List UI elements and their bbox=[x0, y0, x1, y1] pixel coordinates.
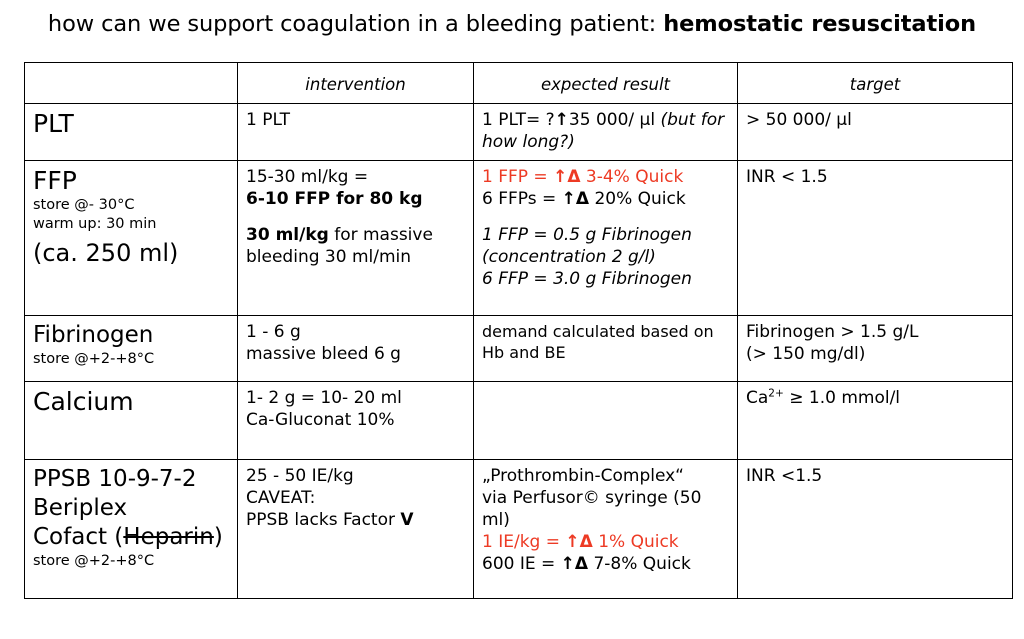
calcium-ion-charge: 2+ bbox=[768, 387, 784, 399]
cell-product-plt: PLT bbox=[25, 104, 238, 161]
expected-plt-line1: 1 PLT= ?↑35 000/ µl (but for how long?) bbox=[482, 109, 729, 153]
target-calcium-line1: Ca2+ ≥ 1.0 mmol/l bbox=[746, 387, 1004, 409]
intervention-ffp-massive: 30 ml/kg for massive bleeding 30 ml/min bbox=[246, 224, 465, 268]
cell-target-fibrinogen: Fibrinogen > 1.5 g/L (> 150 mg/dl) bbox=[738, 316, 1013, 382]
expected-plt-value: 35 000/ µl bbox=[569, 110, 661, 130]
cell-target-ppsb: INR <1.5 bbox=[738, 460, 1013, 599]
table-row-ppsb: PPSB 10-9-7-2 Beriplex Cofact (Heparin) … bbox=[25, 460, 1013, 599]
intervention-ppsb-caveat-prefix: PPSB lacks Factor bbox=[246, 510, 400, 530]
expected-ffp-single: 1 FFP = ↑Δ 3-4% Quick bbox=[482, 166, 729, 188]
table-row-calcium: Calcium 1- 2 g = 10- 20 ml Ca-Gluconat 1… bbox=[25, 382, 1013, 460]
intervention-calcium-preparation: Ca-Gluconat 10% bbox=[246, 409, 465, 431]
spacer bbox=[246, 210, 465, 224]
product-volume-ffp: (ca. 250 ml) bbox=[33, 238, 229, 269]
header-label-intervention: intervention bbox=[246, 68, 465, 94]
cell-target-plt: > 50 000/ µl bbox=[738, 104, 1013, 161]
expected-ppsb-600ie-value: 7-8% Quick bbox=[588, 554, 691, 574]
table-row-fibrinogen: Fibrinogen store @+2-+8°C 1 - 6 g massiv… bbox=[25, 316, 1013, 382]
intervention-ppsb-dose: 25 - 50 IE/kg bbox=[246, 465, 465, 487]
product-storage-ppsb: store @+2-+8°C bbox=[33, 552, 229, 571]
hemostatic-resuscitation-table: intervention expected result target PLT … bbox=[24, 62, 1013, 599]
cell-expected-ffp: 1 FFP = ↑Δ 3-4% Quick 6 FFPs = ↑Δ 20% Qu… bbox=[474, 161, 738, 316]
cell-intervention-ppsb: 25 - 50 IE/kg CAVEAT: PPSB lacks Factor … bbox=[238, 460, 474, 599]
intervention-ppsb-factor-v: V bbox=[400, 510, 413, 530]
target-ffp-line1: INR < 1.5 bbox=[746, 166, 1004, 188]
calcium-target-value: ≥ 1.0 mmol/l bbox=[784, 388, 900, 408]
cell-expected-plt: 1 PLT= ?↑35 000/ µl (but for how long?) bbox=[474, 104, 738, 161]
expected-ffp-single-prefix: 1 FFP = bbox=[482, 167, 553, 187]
cell-intervention-calcium: 1- 2 g = 10- 20 ml Ca-Gluconat 10% bbox=[238, 382, 474, 460]
product-name-ffp: FFP bbox=[33, 166, 229, 196]
cell-product-ppsb: PPSB 10-9-7-2 Beriplex Cofact (Heparin) … bbox=[25, 460, 238, 599]
spacer bbox=[482, 210, 729, 224]
expected-ppsb-per-kg-value: 1% Quick bbox=[593, 532, 679, 552]
expected-ffp-fibrinogen-6: 6 FFP = 3.0 g Fibrinogen bbox=[482, 268, 729, 290]
table-row-ffp: FFP store @- 30°C warm up: 30 min (ca. 2… bbox=[25, 161, 1013, 316]
product-name-ppsb: PPSB 10-9-7-2 bbox=[33, 465, 229, 494]
cell-product-calcium: Calcium bbox=[25, 382, 238, 460]
expected-ppsb-administration: via Perfusor© syringe (50 ml) bbox=[482, 487, 729, 531]
expected-ppsb-600ie-prefix: 600 IE = bbox=[482, 554, 561, 574]
cell-intervention-ffp: 15-30 ml/kg = 6-10 FFP for 80 kg 30 ml/k… bbox=[238, 161, 474, 316]
product-name-plt: PLT bbox=[33, 109, 229, 139]
cell-expected-ppsb: „Prothrombin-Complex“ via Perfusor© syri… bbox=[474, 460, 738, 599]
cell-product-fibrinogen: Fibrinogen store @+2-+8°C bbox=[25, 316, 238, 382]
up-arrow-delta-icon: ↑Δ bbox=[562, 189, 589, 209]
expected-ffp-six-value: 20% Quick bbox=[589, 189, 686, 209]
table-row-plt: PLT 1 PLT 1 PLT= ?↑35 000/ µl (but for h… bbox=[25, 104, 1013, 161]
intervention-fibrinogen-massive: massive bleed 6 g bbox=[246, 343, 465, 365]
intervention-plt-line1: 1 PLT bbox=[246, 109, 465, 131]
header-label-target: target bbox=[746, 68, 1004, 94]
page-title-lead: how can we support coagulation in a blee… bbox=[48, 11, 663, 37]
cell-target-calcium: Ca2+ ≥ 1.0 mmol/l bbox=[738, 382, 1013, 460]
cell-intervention-fibrinogen: 1 - 6 g massive bleed 6 g bbox=[238, 316, 474, 382]
expected-ppsb-per-kg: 1 IE/kg = ↑Δ 1% Quick bbox=[482, 531, 729, 553]
intervention-fibrinogen-dose: 1 - 6 g bbox=[246, 321, 465, 343]
header-cell-intervention: intervention bbox=[238, 63, 474, 104]
intervention-ppsb-caveat-label: CAVEAT: bbox=[246, 487, 465, 509]
cell-intervention-plt: 1 PLT bbox=[238, 104, 474, 161]
up-arrow-delta-icon: ↑Δ bbox=[561, 554, 588, 574]
target-plt-line1: > 50 000/ µl bbox=[746, 109, 1004, 131]
intervention-calcium-dose: 1- 2 g = 10- 20 ml bbox=[246, 387, 465, 409]
header-cell-expected-result: expected result bbox=[474, 63, 738, 104]
target-fibrinogen-line2: (> 150 mg/dl) bbox=[746, 343, 1004, 365]
expected-ffp-fibrinogen-1: 1 FFP = 0.5 g Fibrinogen bbox=[482, 224, 729, 246]
target-ppsb-line1: INR <1.5 bbox=[746, 465, 1004, 487]
page-title-emphasis: hemostatic resuscitation bbox=[663, 11, 976, 37]
header-cell-blank bbox=[25, 63, 238, 104]
header-cell-target: target bbox=[738, 63, 1013, 104]
table-header-row: intervention expected result target bbox=[25, 63, 1013, 104]
intervention-ffp-massive-dose: 30 ml/kg bbox=[246, 225, 329, 245]
expected-ffp-concentration: (concentration 2 g/l) bbox=[482, 246, 729, 268]
product-heparin-struck: Heparin bbox=[123, 524, 214, 550]
cell-expected-fibrinogen: demand calculated based on Hb and BE bbox=[474, 316, 738, 382]
expected-ffp-six: 6 FFPs = ↑Δ 20% Quick bbox=[482, 188, 729, 210]
up-arrow-delta-icon: ↑Δ bbox=[565, 532, 592, 552]
expected-ffp-single-value: 3-4% Quick bbox=[581, 167, 684, 187]
product-storage-ffp: store @- 30°C bbox=[33, 196, 229, 215]
up-arrow-icon: ↑ bbox=[555, 110, 569, 130]
product-warmup-ffp: warm up: 30 min bbox=[33, 215, 229, 234]
page-title: how can we support coagulation in a blee… bbox=[0, 9, 1024, 39]
expected-plt-prefix: 1 PLT= ? bbox=[482, 110, 555, 130]
cell-product-ffp: FFP store @- 30°C warm up: 30 min (ca. 2… bbox=[25, 161, 238, 316]
intervention-ffp-unit-count: 6-10 FFP for 80 kg bbox=[246, 188, 465, 210]
cell-target-ffp: INR < 1.5 bbox=[738, 161, 1013, 316]
up-arrow-delta-icon: ↑Δ bbox=[553, 167, 580, 187]
calcium-ion-symbol: Ca bbox=[746, 388, 768, 408]
expected-ppsb-name: „Prothrombin-Complex“ bbox=[482, 465, 729, 487]
expected-ppsb-600ie: 600 IE = ↑Δ 7-8% Quick bbox=[482, 553, 729, 575]
expected-fibrinogen-note: demand calculated based on Hb and BE bbox=[482, 321, 729, 363]
intervention-ppsb-caveat-text: PPSB lacks Factor V bbox=[246, 509, 465, 531]
expected-ppsb-per-kg-prefix: 1 IE/kg = bbox=[482, 532, 565, 552]
cell-expected-calcium bbox=[474, 382, 738, 460]
product-brand-cofact-label: Cofact bbox=[33, 524, 107, 550]
expected-ffp-six-prefix: 6 FFPs = bbox=[482, 189, 562, 209]
product-brand-cofact: Cofact (Heparin) bbox=[33, 523, 229, 552]
product-storage-fibrinogen: store @+2-+8°C bbox=[33, 350, 229, 369]
header-label-expected-result: expected result bbox=[482, 68, 729, 94]
target-fibrinogen-line1: Fibrinogen > 1.5 g/L bbox=[746, 321, 1004, 343]
intervention-ffp-dose-range: 15-30 ml/kg = bbox=[246, 166, 465, 188]
product-name-calcium: Calcium bbox=[33, 387, 229, 417]
hemostatic-table-wrapper: intervention expected result target PLT … bbox=[24, 62, 1012, 599]
product-brand-beriplex: Beriplex bbox=[33, 494, 229, 523]
product-name-fibrinogen: Fibrinogen bbox=[33, 321, 229, 350]
